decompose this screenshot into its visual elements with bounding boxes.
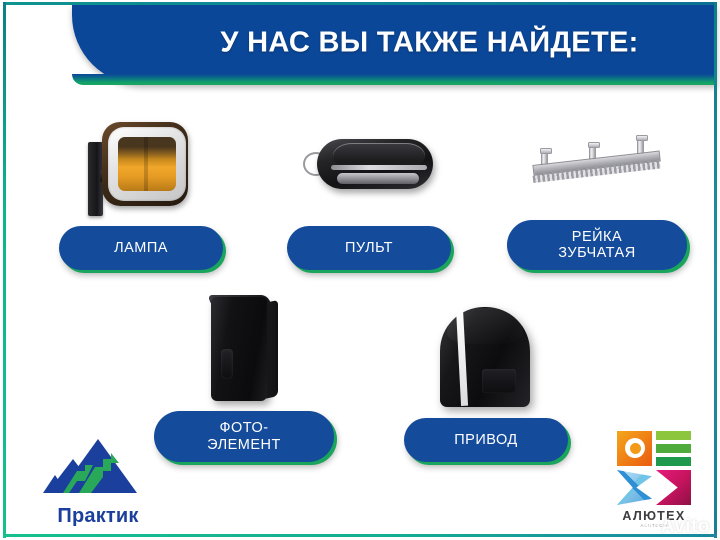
toothed-rack-image [502, 95, 692, 220]
product-label-text-line2: ЗУБЧАТАЯ [558, 245, 635, 261]
product-label-drive[interactable]: ПРИВОД [404, 418, 568, 462]
praktik-logo: Практик [33, 437, 163, 528]
photocell-image [149, 286, 339, 411]
lamp-art [82, 110, 200, 218]
alutech-tiles [617, 431, 691, 505]
lamp-lens [118, 137, 176, 191]
product-label-text-line1: ФОТО- [207, 420, 281, 436]
product-cell-remote: ПУЛЬТ [274, 101, 464, 270]
remote-control-image [274, 101, 464, 226]
product-cell-lamp: ЛАМПА [46, 101, 236, 270]
alutech-green-bars [656, 431, 691, 466]
product-grid: ЛАМПА ПУЛЬТ [0, 95, 720, 462]
photocell-body [211, 297, 267, 401]
drive-highlight [447, 308, 523, 344]
alutech-logo: АЛЮТЕХ ALUTECH [606, 431, 702, 528]
header-banner: У НАС ВЫ ТАКЖЕ НАЙДЕТЕ: [72, 5, 717, 85]
product-label-remote[interactable]: ПУЛЬТ [287, 226, 451, 270]
product-label-photocell[interactable]: ФОТО- ЭЛЕМЕНТ [154, 411, 334, 461]
gate-drive-image [391, 293, 581, 418]
remote-art [303, 129, 435, 199]
alutech-tile-orange [617, 431, 652, 466]
alutech-tile-blue [617, 470, 652, 505]
frame-top-edge [3, 2, 717, 5]
alutech-tile-green [656, 431, 691, 466]
product-label-text: ПРИВОД [454, 432, 518, 448]
product-cell-drive: ПРИВОД [391, 293, 581, 462]
product-label-text-line1: РЕЙКА [558, 229, 635, 245]
frame-left-edge [3, 2, 6, 538]
remote-chrome-trim [331, 165, 427, 170]
product-label-rack[interactable]: РЕЙКА ЗУБЧАТАЯ [507, 220, 687, 270]
signal-lamp-image [46, 101, 236, 226]
rack-art [527, 127, 667, 189]
remote-button [337, 173, 419, 184]
product-cell-photocell: ФОТО- ЭЛЕМЕНТ [149, 286, 339, 461]
slide-root: У НАС ВЫ ТАКЖЕ НАЙДЕТЕ: ЛАМПА [0, 0, 720, 540]
product-label-text-line2: ЭЛЕМЕНТ [207, 437, 281, 453]
product-cell-rack: РЕЙКА ЗУБЧАТАЯ [502, 95, 692, 270]
alutech-tile-magenta [656, 470, 691, 505]
drive-panel [482, 369, 516, 393]
praktik-logo-text: Практик [33, 505, 163, 528]
photocell-art [201, 293, 287, 405]
alutech-logo-text: АЛЮТЕХ [606, 509, 702, 523]
product-row-1: ЛАМПА ПУЛЬТ [0, 95, 720, 270]
drive-art [434, 299, 538, 411]
alutech-logo-subtitle: ALUTECH [606, 523, 702, 528]
product-label-text: ПУЛЬТ [345, 240, 393, 256]
page-title: У НАС ВЫ ТАКЖЕ НАЙДЕТЕ: [162, 27, 697, 60]
photocell-lens [221, 349, 233, 379]
frame-right-edge [714, 2, 717, 538]
product-label-text: ЛАМПА [114, 240, 168, 256]
product-label-lamp[interactable]: ЛАМПА [59, 226, 223, 270]
frame-bottom-edge [3, 534, 717, 537]
praktik-mountain-icon [33, 437, 163, 499]
